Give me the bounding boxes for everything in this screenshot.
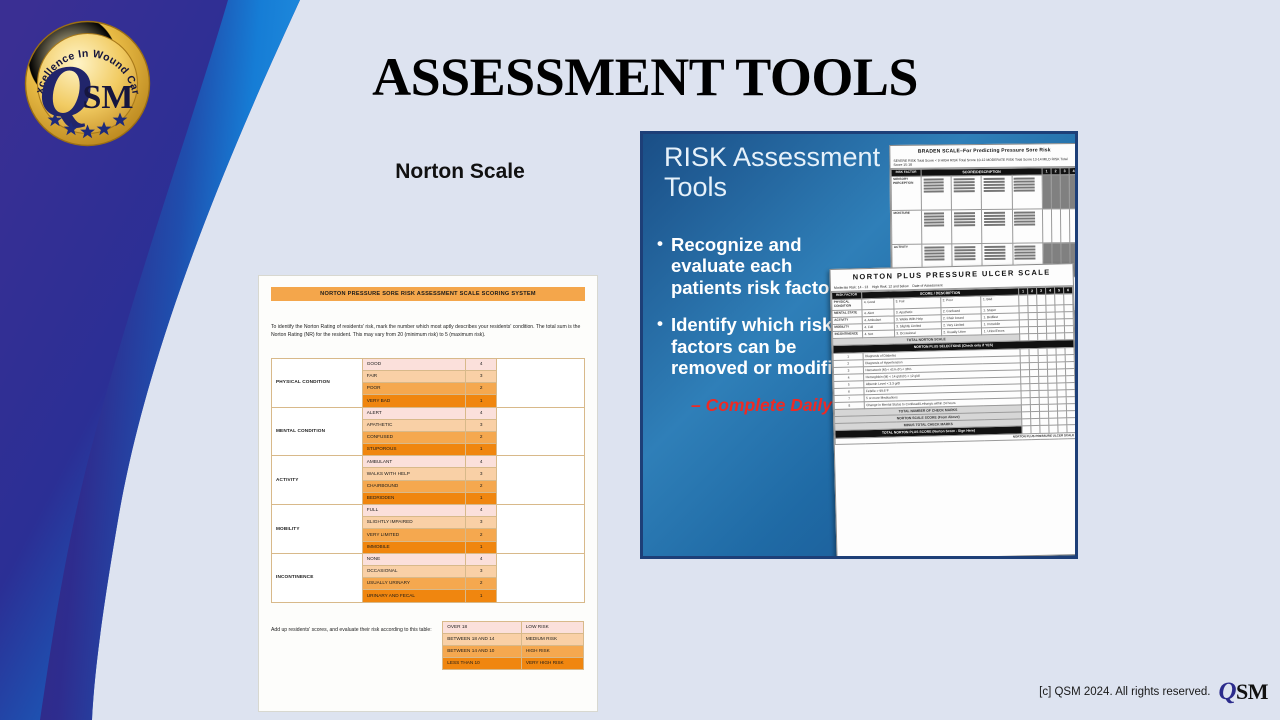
table-row: OVER 18LOW RISK xyxy=(443,621,583,633)
risk-assessment-slide-image: RISK Assessment Tools • Recognize and ev… xyxy=(640,131,1078,559)
np-legend-date: Date of Assessment xyxy=(912,283,942,288)
norton-option-score: 4 xyxy=(466,358,497,370)
norton-category-label: MOBILITY xyxy=(272,505,363,554)
braden-description-cell xyxy=(921,210,952,244)
norton-entry-cell[interactable] xyxy=(497,553,585,602)
np-score-cell[interactable] xyxy=(1064,294,1073,305)
np-score-cell[interactable] xyxy=(1037,295,1046,306)
braden-description-cell xyxy=(1012,209,1043,243)
np-score-cell[interactable] xyxy=(1046,295,1055,306)
norton-option-label: WALKS WITH HELP xyxy=(362,468,465,480)
braden-score-col-header: 3 xyxy=(1060,168,1069,176)
norton-plus-grid: RISK FACTORSCORE / DESCRIPTION123456PHYS… xyxy=(831,286,1077,445)
norton-option-score: 4 xyxy=(466,456,497,468)
risk-range: BETWEEN 18 AND 14 xyxy=(443,633,522,645)
norton-option-label: USUALLY URINARY xyxy=(362,578,465,590)
risk-label: VERY HIGH RISK xyxy=(521,658,583,670)
braden-score-cell[interactable] xyxy=(1069,209,1078,243)
norton-option-label: STUPOROUS xyxy=(362,444,465,456)
norton-risk-table: OVER 18LOW RISKBETWEEN 18 AND 14MEDIUM R… xyxy=(442,621,583,671)
braden-score-col-header: 4 xyxy=(1069,168,1078,176)
risk-label: HIGH RISK xyxy=(521,645,583,657)
norton-option-label: OCCASIONAL xyxy=(362,565,465,577)
norton-footer-text: Add up residents' scores, and evaluate t… xyxy=(271,621,434,634)
np-legend-high: High Risk: 12 and below xyxy=(872,284,909,289)
footer: [c] QSM 2024. All rights reserved. QSM xyxy=(1039,678,1268,706)
risk-slide-title: RISK Assessment Tools xyxy=(664,142,894,202)
norton-entry-cell[interactable] xyxy=(497,505,585,554)
braden-score-cell[interactable] xyxy=(1060,209,1069,243)
braden-description-cell xyxy=(982,176,1013,210)
braden-row-label: SENSORY PERCEPTION xyxy=(891,177,921,211)
norton-option-score: 2 xyxy=(466,578,497,590)
np-score-cell[interactable] xyxy=(1019,295,1028,306)
norton-option-label: SLIGHTLY IMPAIRED xyxy=(362,517,465,529)
risk-range: OVER 18 xyxy=(443,621,522,633)
table-row: INCONTINENCENONE4 xyxy=(272,553,585,565)
norton-option-score: 1 xyxy=(466,492,497,504)
table-row: MENTAL CONDITIONALERT4 xyxy=(272,407,585,419)
np-score-cell[interactable] xyxy=(1055,294,1064,305)
braden-description-cell xyxy=(982,210,1013,244)
braden-description-cell xyxy=(952,210,983,244)
norton-category-label: PHYSICAL CONDITION xyxy=(272,358,363,407)
risk-range: LESS THAN 10 xyxy=(443,658,522,670)
norton-option-label: ALERT xyxy=(362,407,465,419)
braden-score-cell[interactable] xyxy=(1051,175,1060,209)
risk-range: BETWEEN 14 AND 10 xyxy=(443,645,522,657)
braden-description-cell xyxy=(921,176,952,210)
norton-option-label: IMMOBILE xyxy=(362,541,465,553)
norton-category-label: INCONTINENCE xyxy=(272,553,363,602)
bullet-dot-icon: • xyxy=(657,234,663,298)
norton-option-score: 1 xyxy=(466,395,497,407)
norton-option-score: 4 xyxy=(466,553,497,565)
footer-qsm-logo: QSM xyxy=(1218,678,1268,706)
norton-option-label: FAIR xyxy=(362,370,465,382)
risk-slide-title-line2: Tools xyxy=(664,172,894,202)
braden-score-cell[interactable] xyxy=(1042,209,1051,243)
norton-option-label: URINARY AND FECAL xyxy=(362,590,465,602)
page-title: ASSESSMENT TOOLS xyxy=(300,46,990,108)
braden-description-cell xyxy=(951,176,982,210)
norton-doc-intro: To identify the Norton Rating of residen… xyxy=(271,323,585,340)
norton-option-label: POOR xyxy=(362,383,465,395)
norton-scale-caption: Norton Scale xyxy=(300,160,620,184)
norton-option-score: 2 xyxy=(466,480,497,492)
copyright-text: [c] QSM 2024. All rights reserved. xyxy=(1039,686,1210,698)
norton-category-label: ACTIVITY xyxy=(272,456,363,505)
table-row: BETWEEN 18 AND 14MEDIUM RISK xyxy=(443,633,583,645)
norton-option-score: 3 xyxy=(466,419,497,431)
norton-entry-cell[interactable] xyxy=(497,456,585,505)
risk-label: LOW RISK xyxy=(521,621,583,633)
norton-option-score: 1 xyxy=(466,444,497,456)
risk-label: MEDIUM RISK xyxy=(521,633,583,645)
qsm-logo: Excellence In Wound Care Q SM xyxy=(16,12,159,155)
np-row-label: PHYSICAL CONDITION xyxy=(832,299,862,310)
norton-option-label: CHAIRBOUND xyxy=(362,480,465,492)
norton-entry-cell[interactable] xyxy=(497,407,585,456)
norton-option-label: CONFUSED xyxy=(362,431,465,443)
braden-description-cell xyxy=(1012,175,1043,209)
norton-option-score: 4 xyxy=(466,505,497,517)
braden-row-label: MOISTURE xyxy=(891,211,921,245)
braden-score-cell[interactable] xyxy=(1042,175,1051,209)
norton-option-label: BEDRIDDEN xyxy=(362,492,465,504)
norton-category-label: MENTAL CONDITION xyxy=(272,407,363,456)
braden-score-cell[interactable] xyxy=(1069,175,1078,209)
table-row: BETWEEN 14 AND 10HIGH RISK xyxy=(443,645,583,657)
norton-option-label: APATHETIC xyxy=(362,419,465,431)
np-score-cell[interactable] xyxy=(1028,295,1037,306)
table-row: MOISTURE xyxy=(891,209,1078,245)
braden-score-col-header: 2 xyxy=(1051,168,1060,176)
norton-doc-footer: Add up residents' scores, and evaluate t… xyxy=(271,621,585,671)
table-row: SENSORY PERCEPTION xyxy=(891,175,1078,211)
braden-score-col-header: 1 xyxy=(1042,168,1051,176)
norton-option-score: 3 xyxy=(466,468,497,480)
norton-option-score: 2 xyxy=(466,383,497,395)
table-row: PHYSICAL CONDITIONGOOD4 xyxy=(272,358,585,370)
norton-option-score: 1 xyxy=(466,541,497,553)
braden-score-cell[interactable] xyxy=(1051,209,1060,243)
table-row: ACTIVITYAMBULANT4 xyxy=(272,456,585,468)
norton-option-score: 3 xyxy=(466,517,497,529)
np-option-cell: 4. Good xyxy=(862,298,894,309)
norton-option-score: 4 xyxy=(466,407,497,419)
norton-option-label: GOOD xyxy=(362,358,465,370)
norton-option-score: 2 xyxy=(466,431,497,443)
table-row: LESS THAN 10VERY HIGH RISK xyxy=(443,658,583,670)
norton-option-label: NONE xyxy=(362,553,465,565)
norton-plus-form: NORTON PLUS PRESSURE ULCER SCALE Moderat… xyxy=(829,263,1078,559)
table-row: MOBILITYFULL4 xyxy=(272,505,585,517)
logo-sm: SM xyxy=(83,79,134,116)
np-legend-low: Moderate Risk: 14 - 13 xyxy=(834,285,868,290)
norton-option-label: VERY BAD xyxy=(362,395,465,407)
norton-entry-cell[interactable] xyxy=(497,358,585,407)
norton-option-score: 3 xyxy=(466,565,497,577)
norton-doc-header: NORTON PRESSURE SORE RISK ASSESSMENT SCA… xyxy=(271,287,585,301)
footer-logo-sm: SM xyxy=(1236,679,1268,704)
braden-score-cell[interactable] xyxy=(1060,175,1069,209)
norton-scoring-table: PHYSICAL CONDITIONGOOD4FAIR3POOR2VERY BA… xyxy=(271,358,585,603)
norton-option-label: FULL xyxy=(362,505,465,517)
norton-option-score: 3 xyxy=(466,370,497,382)
bullet-dot-icon: • xyxy=(657,314,663,378)
norton-option-score: 1 xyxy=(466,590,497,602)
footer-logo-q: Q xyxy=(1218,678,1236,705)
norton-option-label: AMBULANT xyxy=(362,456,465,468)
norton-option-label: VERY LIMITED xyxy=(362,529,465,541)
risk-slide-title-line1: RISK Assessment xyxy=(664,142,894,172)
norton-scale-document: NORTON PRESSURE SORE RISK ASSESSMENT SCA… xyxy=(258,275,598,712)
norton-option-score: 2 xyxy=(466,529,497,541)
